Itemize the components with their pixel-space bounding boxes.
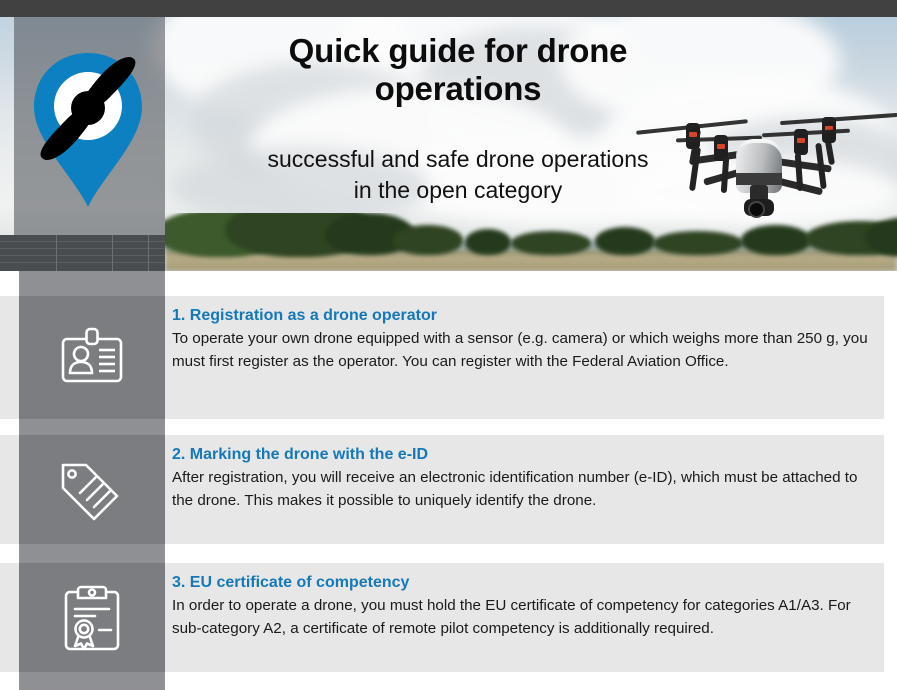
step-2-title: 2. Marking the drone with the e-ID bbox=[172, 445, 868, 466]
step-1-title: 1. Registration as a drone operator bbox=[172, 306, 868, 327]
infographic-page: Quick guide for drone operations success… bbox=[0, 0, 897, 690]
icon-column-spacer-top bbox=[19, 271, 165, 296]
building-fence bbox=[0, 235, 165, 271]
step-3-icon-column bbox=[19, 563, 165, 672]
step-1-icon-column bbox=[19, 296, 165, 419]
step-2-icon-column bbox=[19, 435, 165, 544]
icon-column-spacer-1 bbox=[19, 419, 165, 435]
step-1-text: To operate your own drone equipped with … bbox=[172, 328, 868, 374]
step-3-text: In order to operate a drone, you must ho… bbox=[172, 595, 868, 641]
step-2-body: 2. Marking the drone with the e-ID After… bbox=[172, 445, 868, 512]
page-title-line-2: operations bbox=[178, 70, 738, 108]
page-title: Quick guide for drone operations bbox=[178, 32, 738, 107]
step-row-2: 2. Marking the drone with the e-ID After… bbox=[0, 435, 884, 544]
step-3-title: 3. EU certificate of competency bbox=[172, 573, 868, 594]
step-row-3: 3. EU certificate of competency In order… bbox=[0, 563, 884, 672]
icon-column-spacer-bottom bbox=[19, 672, 165, 690]
drone-pin-propeller-logo bbox=[24, 45, 152, 215]
page-title-line-1: Quick guide for drone bbox=[178, 32, 738, 70]
icon-column-spacer-2 bbox=[19, 544, 165, 563]
step-row-1: 1. Registration as a drone operator To o… bbox=[0, 296, 884, 419]
header-banner: Quick guide for drone operations success… bbox=[0, 17, 897, 271]
step-3-body: 3. EU certificate of competency In order… bbox=[172, 573, 868, 640]
top-bar bbox=[0, 0, 897, 17]
step-2-text: After registration, you will receive an … bbox=[172, 467, 868, 513]
page-subtitle-line-2: in the open category bbox=[178, 175, 738, 206]
tag-icon bbox=[55, 453, 129, 527]
step-1-body: 1. Registration as a drone operator To o… bbox=[172, 306, 868, 373]
id-card-icon bbox=[55, 321, 129, 395]
certificate-clipboard-icon bbox=[55, 581, 129, 655]
page-subtitle-line-1: successful and safe drone operations bbox=[178, 144, 738, 175]
page-subtitle: successful and safe drone operations in … bbox=[178, 144, 738, 205]
